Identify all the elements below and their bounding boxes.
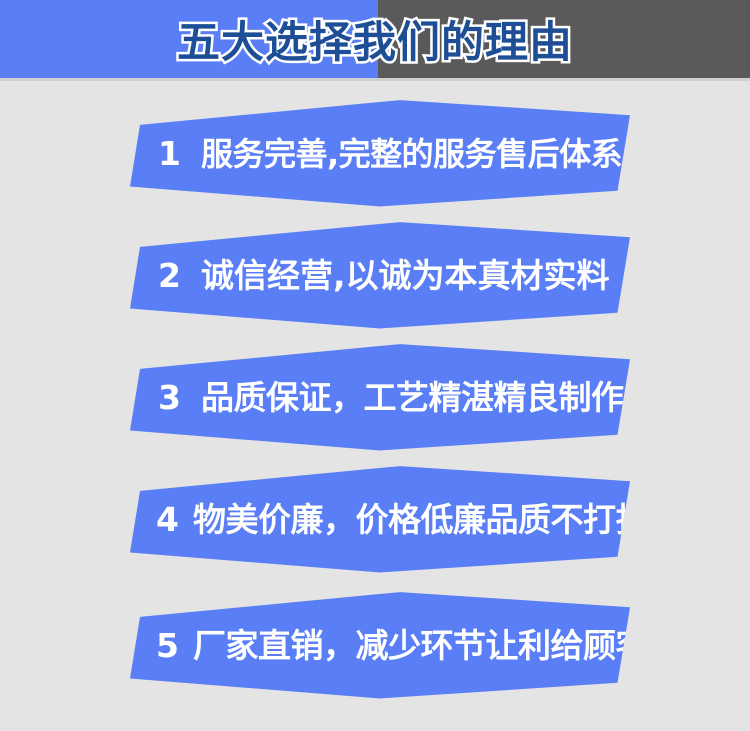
promo-page: 五大选择我们的理由 1 服务完善,完整的服务售后体系 2 诚信经营,以诚为本真材… — [0, 0, 750, 731]
reason-row: 5 厂家直销，减少环节让利给顾客 — [0, 586, 750, 708]
reason-banner-content: 5 厂家直销，减少环节让利给顾客 — [130, 629, 630, 662]
reason-row: 1 服务完善,完整的服务售后体系 — [0, 94, 750, 216]
reason-row: 4 物美价廉，价格低廉品质不打折 — [0, 460, 750, 582]
reasons-list: 1 服务完善,完整的服务售后体系 2 诚信经营,以诚为本真材实料 3 品质保证，… — [0, 81, 750, 731]
reason-label: 服务完善,完整的服务售后体系 — [201, 138, 622, 170]
reason-label: 诚信经营,以诚为本真材实料 — [201, 259, 610, 292]
reason-row: 3 品质保证，工艺精湛精良制作 — [0, 338, 750, 460]
reason-number: 2 — [158, 259, 181, 292]
page-header: 五大选择我们的理由 — [0, 0, 750, 78]
reason-banner-1[interactable]: 1 服务完善,完整的服务售后体系 — [130, 99, 630, 207]
reason-banner-content: 2 诚信经营,以诚为本真材实料 — [130, 259, 630, 292]
reason-number: 3 — [158, 381, 181, 414]
reason-banner-content: 3 品质保证，工艺精湛精良制作 — [130, 381, 630, 414]
reason-label: 厂家直销，减少环节让利给顾客 — [193, 629, 648, 662]
reason-banner-4[interactable]: 4 物美价廉，价格低廉品质不打折 — [130, 465, 630, 573]
reason-banner-content: 1 服务完善,完整的服务售后体系 — [130, 137, 630, 170]
reason-banner-3[interactable]: 3 品质保证，工艺精湛精良制作 — [130, 343, 630, 451]
reason-banner-5[interactable]: 5 厂家直销，减少环节让利给顾客 — [130, 591, 630, 699]
reason-number: 1 — [158, 137, 181, 170]
reason-banner-content: 4 物美价廉，价格低廉品质不打折 — [130, 503, 630, 536]
reason-label: 品质保证，工艺精湛精良制作 — [201, 381, 624, 414]
reason-number: 5 — [156, 629, 179, 662]
reason-label: 物美价廉，价格低廉品质不打折 — [193, 503, 648, 536]
page-title: 五大选择我们的理由 — [0, 0, 750, 78]
reason-number: 4 — [156, 503, 179, 536]
reason-row: 2 诚信经营,以诚为本真材实料 — [0, 216, 750, 338]
reason-banner-2[interactable]: 2 诚信经营,以诚为本真材实料 — [130, 221, 630, 329]
